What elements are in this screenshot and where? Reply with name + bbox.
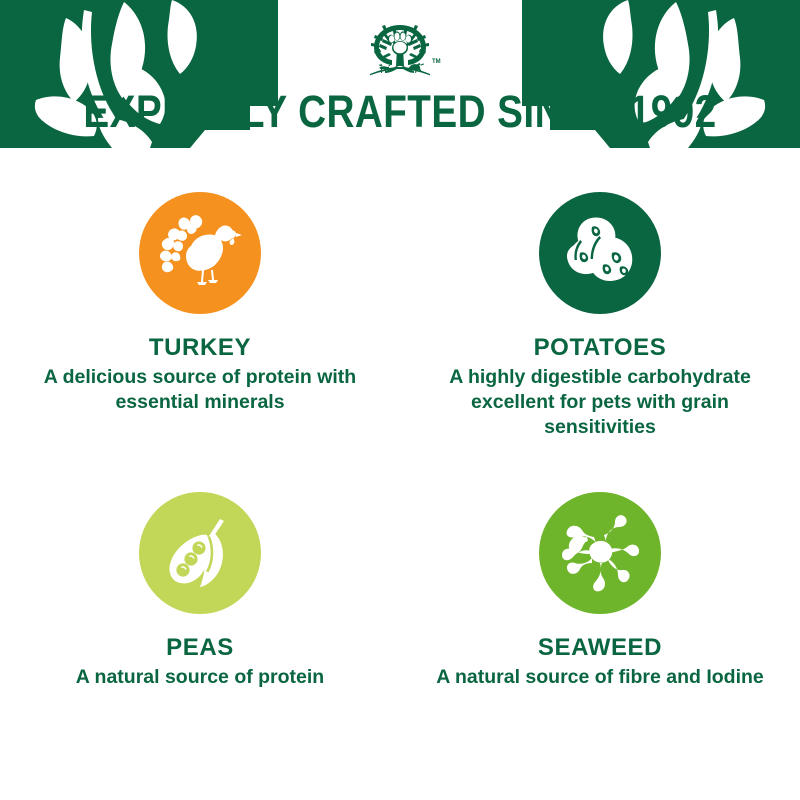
ingredient-description: A highly digestible carbohydrate excelle… (425, 365, 775, 440)
ingredients-grid: TURKEY A delicious source of protein wit… (0, 180, 800, 780)
ingredient-name: SEAWEED (538, 634, 662, 662)
ingredient-card-seaweed: SEAWEED A natural source of fibre and Io… (400, 480, 800, 780)
ingredient-card-potatoes: POTATOES A highly digestible carbohydrat… (400, 180, 800, 480)
ingredient-description: A delicious source of protein with essen… (35, 365, 365, 415)
potatoes-icon (558, 211, 642, 295)
tree-paw-dog-cat-logo: TM (352, 22, 448, 84)
ingredient-name: PEAS (166, 634, 234, 662)
ingredient-feature-poster: TM EXPERTLY CRAFTED SINCE 1992 (0, 0, 800, 800)
peas-icon-circle (139, 492, 261, 614)
seaweed-icon (558, 511, 642, 595)
ingredient-description: A natural source of protein (76, 665, 324, 690)
ingredient-name: POTATOES (534, 334, 667, 362)
trademark-symbol: TM (432, 59, 441, 65)
turkey-icon-circle (139, 192, 261, 314)
turkey-icon (157, 210, 243, 296)
page-title: EXPERTLY CRAFTED SINCE 1992 (56, 87, 744, 137)
ingredient-description: A natural source of fibre and Iodine (436, 665, 764, 690)
ingredient-card-peas: PEAS A natural source of protein (0, 480, 400, 780)
potatoes-icon-circle (539, 192, 661, 314)
ingredient-name: TURKEY (149, 334, 251, 362)
header-banner: TM EXPERTLY CRAFTED SINCE 1992 (0, 0, 800, 148)
seaweed-icon-circle (539, 492, 661, 614)
peas-icon (158, 511, 242, 595)
ingredient-card-turkey: TURKEY A delicious source of protein wit… (0, 180, 400, 480)
